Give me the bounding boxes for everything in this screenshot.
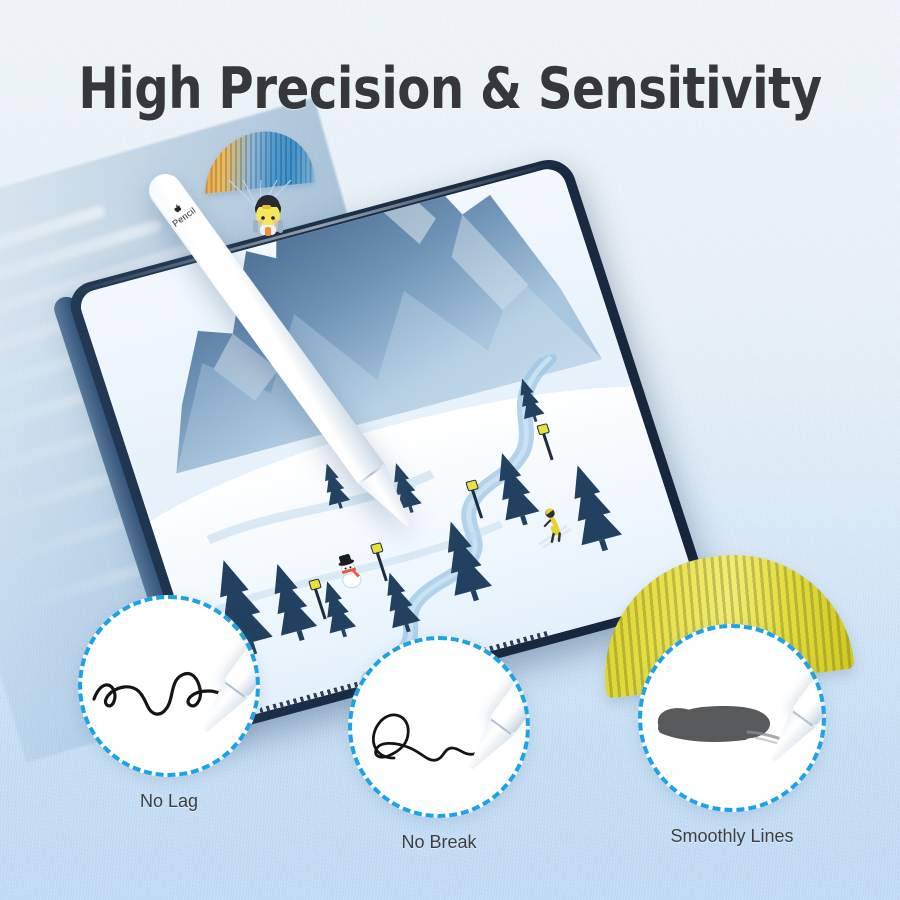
feature-no-lag[interactable]: No Lag <box>78 595 260 777</box>
feature-circle-content <box>638 624 826 812</box>
paraglider-pilot-icon <box>248 194 288 240</box>
paraglider-small <box>205 132 315 242</box>
feature-label-no-lag: No Lag <box>140 791 198 812</box>
feature-no-break[interactable]: No Break <box>348 636 530 818</box>
feature-label-smoothly-lines: Smoothly Lines <box>670 826 793 847</box>
feature-label-no-break: No Break <box>401 832 476 853</box>
feature-circle-content <box>78 595 260 777</box>
page-title: High Precision & Sensitivity <box>27 54 873 124</box>
promo-image-stage: Pencil High Precision & Sensitivity No L… <box>0 0 900 900</box>
feature-smoothly-lines[interactable]: Smoothly Lines <box>638 624 826 812</box>
feature-circle-content <box>348 636 530 818</box>
